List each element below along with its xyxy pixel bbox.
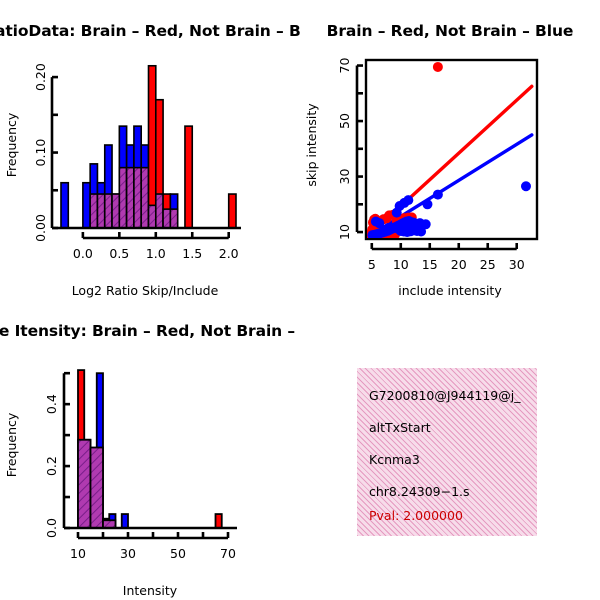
info-gene-name: Kcnma3 [369,452,420,467]
info-pvalue: Pval: 2.000000 [369,508,463,523]
ratio-histogram-bars [61,66,236,228]
intensity-histogram-ylabel: Frequency [4,412,19,477]
histogram-bar-overlap [141,168,148,228]
x-tick-label: 5 [368,257,376,272]
scatter-ylabel: skip intensity [304,103,319,187]
y-tick-label: 70 [337,58,352,74]
x-tick-label: 15 [422,257,438,272]
scatter-point [392,208,402,218]
panel-intensity-histogram: ne Itensity: Brain – Red, Not Brain – B … [0,300,300,600]
y-tick-label: 0.20 [33,63,48,91]
ratio-histogram-xlabel: Log2 Ratio Skip/Include [72,283,219,298]
histogram-bar [83,183,90,228]
x-tick-label: 0.0 [73,246,93,261]
histogram-bar [185,126,192,228]
y-tick-label: 10 [337,224,352,240]
ratio-histogram-ylabel: Frequency [4,112,19,177]
scatter-point [521,181,531,191]
x-tick-label: 10 [70,546,86,561]
panel-intensity-scatter: Brain – Red, Not Brain – Blue 1030507051… [300,0,600,300]
info-locus: chr8.24309−1.s [369,484,470,499]
x-tick-label: 2.0 [219,246,239,261]
histogram-bar-overlap [170,209,177,228]
histogram-bar-overlap [97,194,104,228]
histogram-bar [149,66,156,228]
scatter-point [433,190,443,200]
y-tick-label: 50 [337,113,352,129]
histogram-bar-overlap [105,194,112,228]
y-tick-label: 0.0 [44,518,59,538]
info-event-type: altTxStart [369,420,431,435]
x-tick-label: 1.0 [146,246,166,261]
histogram-bar-overlap [149,205,156,228]
histogram-bar [216,514,222,528]
histogram-bar-overlap [112,194,119,228]
x-tick-label: 25 [480,257,496,272]
y-tick-label: 30 [337,169,352,185]
histogram-bar-overlap [78,440,91,528]
histogram-bar-overlap [91,448,104,529]
intensity-histogram-xlabel: Intensity [123,583,178,598]
x-tick-label: 30 [509,257,525,272]
y-tick-label: 0.4 [44,394,59,414]
panel-annotation-info: G7200810@J944119@j_ altTxStart Kcnma3 ch… [300,300,600,600]
histogram-bar-overlap [119,168,126,228]
scatter-point [422,199,432,209]
histogram-bar [61,183,68,228]
x-tick-label: 70 [220,546,236,561]
scatter-point [374,218,384,228]
intensity-histogram-bars [78,370,222,528]
y-tick-label: 0.2 [44,456,59,476]
ratio-histogram-plot: 0.000.100.200.00.51.01.52.0 Log2 Ratio S… [0,0,300,300]
x-tick-label: 0.5 [109,246,129,261]
intensity-histogram-tick-labels: 0.00.20.410305070 [44,394,236,561]
intensity-histogram-plot: 0.00.20.410305070 Intensity Frequency [0,300,300,600]
histogram-bar-overlap [134,168,141,228]
annotation-info-box: G7200810@J944119@j_ altTxStart Kcnma3 ch… [357,368,537,536]
scatter-xlabel: include intensity [398,283,502,298]
x-tick-label: 30 [120,546,136,561]
x-tick-label: 20 [451,257,467,272]
x-tick-label: 1.5 [182,246,202,261]
histogram-bar [122,514,128,528]
histogram-bar-overlap [90,194,97,228]
x-tick-label: 50 [170,546,186,561]
scatter-point [433,62,443,72]
scatter-plot: 1030507051015202530 include intensity sk… [300,0,600,300]
figure-canvas: RatioData: Brain – Red, Not Brain – Blu … [0,0,600,600]
histogram-bar-overlap [156,194,163,228]
histogram-bar [229,194,236,228]
histogram-bar-overlap [163,209,170,228]
info-probe-id: G7200810@J944119@j_ [369,388,520,403]
panel-ratio-histogram: RatioData: Brain – Red, Not Brain – Blu … [0,0,300,300]
y-tick-label: 0.10 [33,139,48,167]
histogram-bar-overlap [127,168,134,228]
y-tick-label: 0.00 [33,214,48,242]
scatter-point [416,227,426,237]
x-tick-label: 10 [393,257,409,272]
